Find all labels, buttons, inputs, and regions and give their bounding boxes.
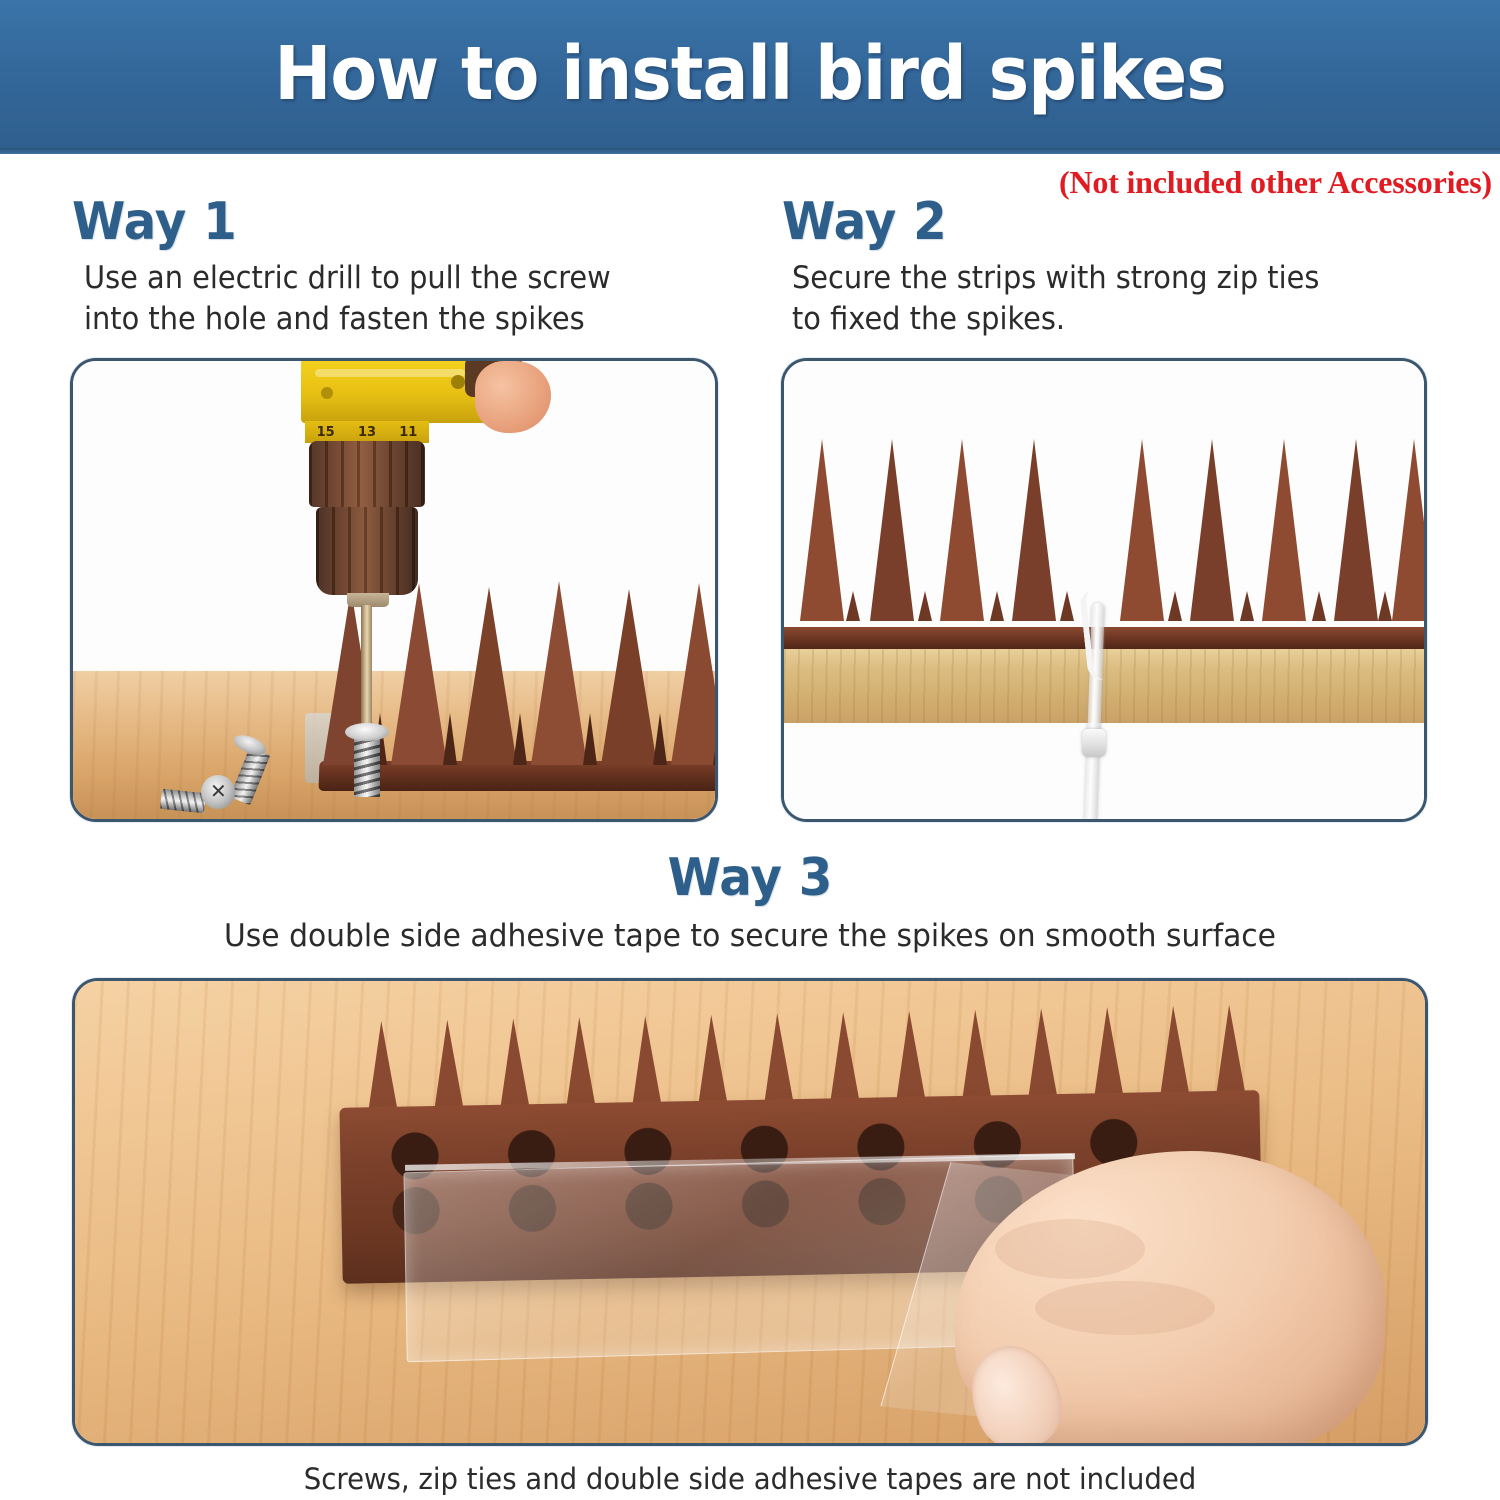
header-banner: How to install bird spikes xyxy=(0,0,1500,148)
screw-head xyxy=(345,723,389,741)
way-1-photo: 15 13 11 ✕ xyxy=(70,358,718,822)
spike-cone xyxy=(1012,439,1056,621)
zip-tie-head xyxy=(1082,729,1106,757)
spike-cone xyxy=(1158,1006,1190,1099)
chuck-grooves xyxy=(316,507,418,595)
spike-cone xyxy=(870,439,914,621)
footer-note: Screws, zip ties and double side adhesiv… xyxy=(38,1462,1463,1496)
knuckle-shadow xyxy=(995,1219,1145,1279)
knuckle-shadow xyxy=(1035,1281,1215,1335)
drill-vent-hole xyxy=(321,387,333,399)
spike-cone-small xyxy=(1168,591,1182,621)
spike-cone xyxy=(432,1019,464,1112)
spike-cone-small xyxy=(1060,591,1074,621)
phillips-cross-icon: ✕ xyxy=(210,781,227,801)
drill-body xyxy=(301,358,489,423)
drill-chuck-lower xyxy=(316,507,418,595)
spike-cone xyxy=(940,439,984,621)
spike-cone xyxy=(1026,1008,1058,1101)
spike-cone xyxy=(564,1017,596,1110)
way-3-photo xyxy=(72,978,1428,1446)
spike-cone xyxy=(1262,439,1306,621)
spike-cone-small xyxy=(846,591,860,621)
spike-cone-small xyxy=(918,591,932,621)
drill-chuck-upper xyxy=(309,441,425,507)
spike-strip-base xyxy=(784,627,1424,649)
spike-cone xyxy=(696,1014,728,1107)
spike-cone xyxy=(671,583,718,765)
drill-clutch-ring: 15 13 11 xyxy=(305,421,429,443)
spike-cone xyxy=(894,1011,926,1104)
spike-cone xyxy=(1092,1007,1124,1100)
way-2-photo xyxy=(781,358,1427,822)
spike-cone-small xyxy=(1240,591,1254,621)
wooden-board xyxy=(784,649,1424,723)
clutch-number: 13 xyxy=(358,425,376,440)
spike-cone xyxy=(461,587,517,765)
spike-cone xyxy=(391,583,447,765)
way-1-description: Use an electric drill to pull the screw … xyxy=(84,258,611,340)
spike-cone-small xyxy=(990,591,1004,621)
spike-cone xyxy=(828,1012,860,1105)
way-3-title: Way 3 xyxy=(53,848,1448,908)
way-3-description: Use double side adhesive tape to secure … xyxy=(30,916,1470,957)
chuck-grooves xyxy=(309,441,425,507)
clutch-number: 11 xyxy=(399,425,417,440)
clutch-number: 15 xyxy=(317,425,335,440)
spike-cone xyxy=(1190,439,1234,621)
spike-cone xyxy=(531,581,587,765)
spike-cone-small xyxy=(443,713,457,765)
page-title: How to install bird spikes xyxy=(274,31,1225,117)
spike-cone-small xyxy=(583,713,597,765)
not-included-notice: (Not included other Accessories) xyxy=(1059,164,1492,201)
spike-cone xyxy=(630,1016,662,1109)
spike-cone-small xyxy=(1378,591,1392,621)
spike-cone-small xyxy=(1312,591,1326,621)
way-1-title: Way 1 xyxy=(72,192,237,252)
spike-cone xyxy=(762,1013,794,1106)
spike-cone xyxy=(498,1018,530,1111)
screw-being-driven xyxy=(354,733,380,797)
spike-cone-small xyxy=(653,713,667,765)
spike-cone-small xyxy=(513,713,527,765)
spike-cone-small xyxy=(713,713,718,765)
way-2-description: Secure the strips with strong zip ties t… xyxy=(792,258,1319,340)
drill-vent-hole xyxy=(451,375,465,389)
way-2-title: Way 2 xyxy=(782,192,947,252)
spike-cone xyxy=(1120,439,1164,621)
spike-cone xyxy=(960,1009,992,1102)
spike-cone xyxy=(366,1021,398,1114)
spike-cone xyxy=(1334,439,1378,621)
drill-bit-shaft xyxy=(361,605,372,739)
spike-cone xyxy=(1214,1004,1246,1097)
header-divider xyxy=(0,148,1500,154)
spike-cone xyxy=(800,439,844,621)
spike-cone xyxy=(601,589,657,765)
spike-cone xyxy=(1392,439,1427,621)
